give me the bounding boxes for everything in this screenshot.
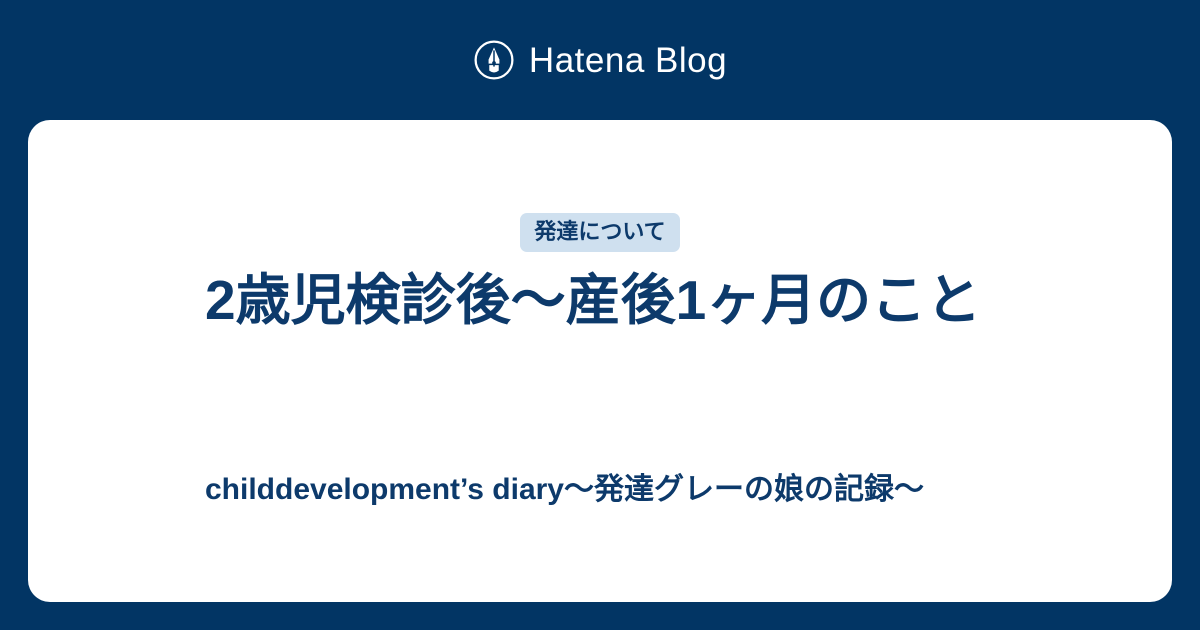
category-row: 発達について <box>205 213 995 252</box>
fountain-pen-nib-icon <box>473 39 515 81</box>
service-name: Hatena Blog <box>529 43 727 78</box>
brand-header: Hatena Blog <box>0 0 1200 120</box>
og-image-card: Hatena Blog 発達について 2歳児検診後〜産後1ヶ月のこと child… <box>0 0 1200 630</box>
blog-title[interactable]: childdevelopment’s diary〜発達グレーの娘の記録〜 <box>205 470 995 509</box>
entry-title: 2歳児検診後〜産後1ヶ月のこと <box>205 268 995 333</box>
entry-panel: 発達について 2歳児検診後〜産後1ヶ月のこと childdevelopment’… <box>28 120 1172 602</box>
entry-panel-inner: 発達について 2歳児検診後〜産後1ヶ月のこと childdevelopment’… <box>28 120 1172 602</box>
entry-block: 発達について 2歳児検診後〜産後1ヶ月のこと childdevelopment’… <box>205 213 995 510</box>
category-badge[interactable]: 発達について <box>520 213 679 252</box>
